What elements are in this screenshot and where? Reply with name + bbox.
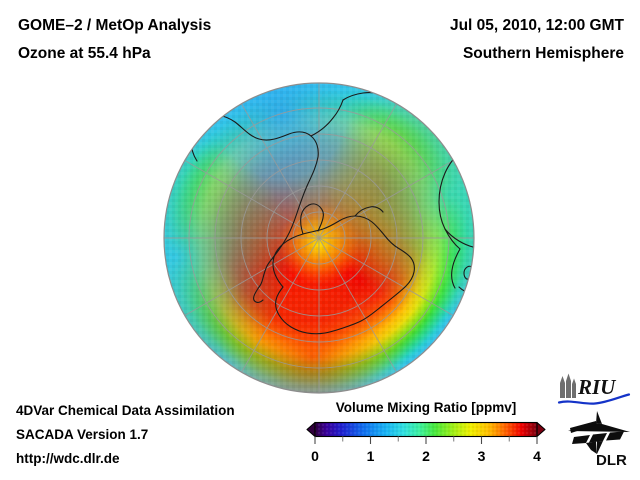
- source-url: http://wdc.dlr.de: [16, 452, 120, 466]
- dlr-wordmark: DLR: [596, 452, 627, 468]
- colorbar-tick-2: 2: [422, 448, 430, 464]
- colorbar-tick-1: 1: [367, 448, 375, 464]
- timestamp-label: Jul 05, 2010, 12:00 GMT: [450, 18, 624, 34]
- riu-wordmark: RIU: [577, 375, 617, 399]
- dlr-emblem-icon: [568, 411, 630, 454]
- colorbar-tick-0: 0: [311, 448, 319, 464]
- colorbar-tick-4: 4: [533, 448, 541, 464]
- colorbar-tick-3: 3: [478, 448, 486, 464]
- page-title: GOME–2 / MetOp Analysis: [18, 18, 211, 34]
- version-label: SACADA Version 1.7: [16, 428, 148, 442]
- region-label: Southern Hemisphere: [463, 46, 624, 62]
- method-label: 4DVar Chemical Data Assimilation: [16, 404, 235, 418]
- colorbar: Volume Mixing Ratio [ppmv]: [306, 400, 546, 472]
- colorbar-gradient: [306, 420, 546, 446]
- riu-logo: RIU: [557, 372, 631, 406]
- page-subtitle: Ozone at 55.4 hPa: [18, 46, 151, 62]
- colorbar-title: Volume Mixing Ratio [ppmv]: [306, 400, 546, 415]
- ozone-globe-map: [163, 82, 475, 394]
- riu-towers-icon: [560, 374, 576, 399]
- dlr-logo: DLR: [566, 410, 632, 468]
